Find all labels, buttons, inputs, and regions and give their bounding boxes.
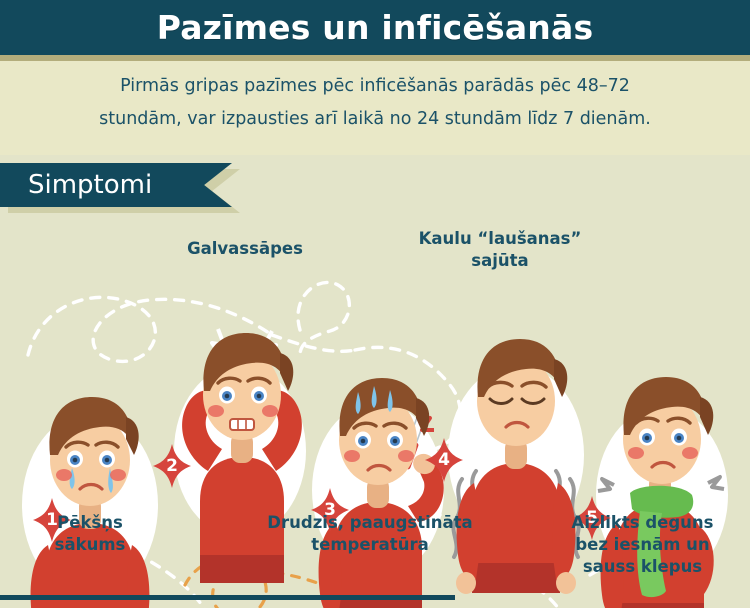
intro-line-2: stundām, var izpausties arī laikā no 24 … <box>50 103 700 136</box>
symptom-badge-2: 2 <box>152 443 192 489</box>
bottom-rule <box>0 595 455 600</box>
symptom-badge-4: 4 <box>424 437 464 483</box>
intro-line-1: Pirmās gripas pazīmes pēc inficēšanās pa… <box>50 70 700 103</box>
caption-3-line-1: Drudzis, paaugstināta <box>236 512 504 534</box>
infographic-root: Pazīmes un inficēšanās Pirmās gripas paz… <box>0 0 750 608</box>
caption-1-line-2: sākums <box>10 534 170 556</box>
caption-4-line-2: sajūta <box>392 250 608 272</box>
caption-4-line-1: Kaulu “laušanas” <box>392 228 608 250</box>
caption-body-ache: Kaulu “laušanas” sajūta <box>392 228 608 272</box>
caption-headache: Galvassāpes <box>155 238 335 260</box>
caption-3-line-2: temperatūra <box>236 534 504 556</box>
caption-congestion-cough: Aizlikts deguns bez iesnām un sauss klep… <box>540 512 745 578</box>
symptom-badge-2-number: 2 <box>152 443 192 489</box>
crying-boy-figure <box>8 355 168 608</box>
caption-sudden-onset: Pēkšņs sākums <box>10 512 170 556</box>
ribbon-label: Simptomi <box>28 163 152 207</box>
page-title: Pazīmes un inficēšanās <box>0 0 750 55</box>
caption-5-line-3: sauss klepus <box>540 556 745 578</box>
caption-5-line-1: Aizlikts deguns <box>540 512 745 534</box>
simptomi-ribbon: Simptomi <box>0 163 240 211</box>
caption-fever: Drudzis, paaugstināta temperatūra <box>236 512 504 556</box>
intro-text: Pirmās gripas pazīmes pēc inficēšanās pa… <box>50 70 700 136</box>
symptom-badge-4-number: 4 <box>424 437 464 483</box>
caption-2-line-1: Galvassāpes <box>155 238 335 260</box>
caption-1-line-1: Pēkšņs <box>10 512 170 534</box>
caption-5-line-2: bez iesnām un <box>540 534 745 556</box>
